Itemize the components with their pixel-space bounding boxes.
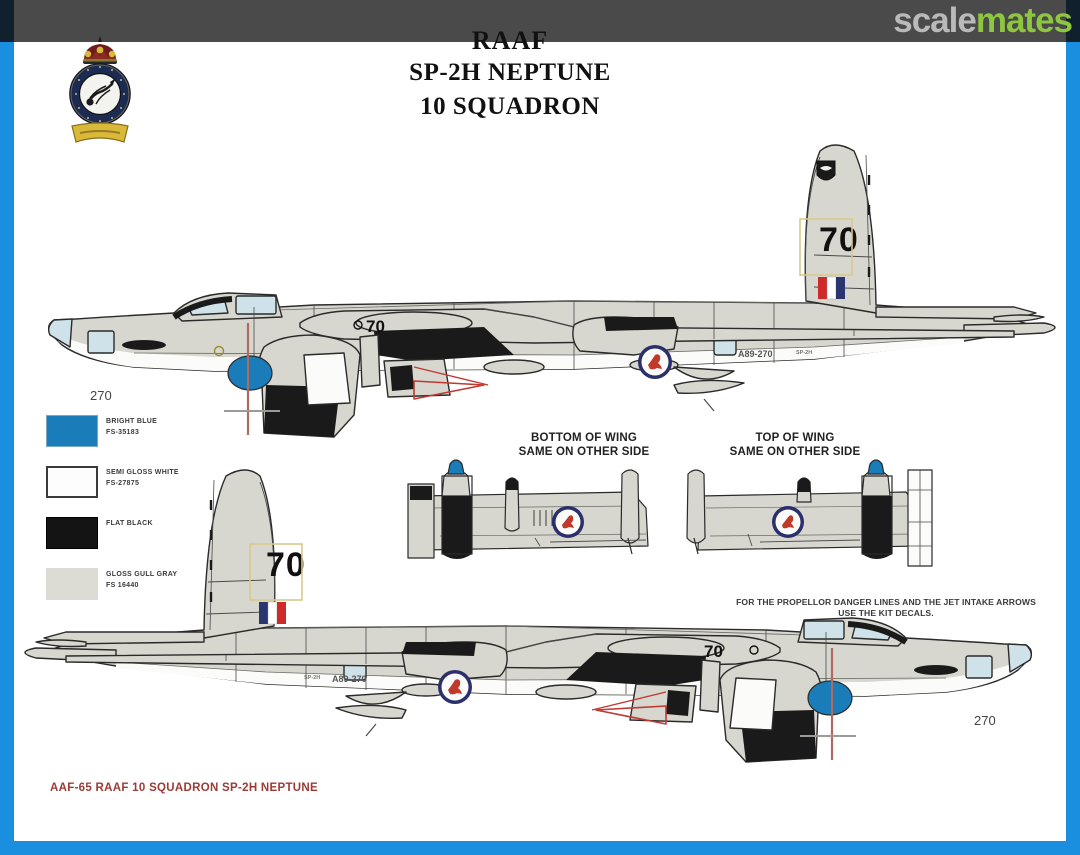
legend-row-semi-gloss-white: SEMI GLOSS WHITE FS-27875 (46, 466, 256, 511)
legend-code-bright-blue: FS-35183 (106, 427, 157, 438)
caption-bottom-of-wing: BOTTOM OF WING SAME ON OTHER SIDE (484, 431, 684, 459)
roundel-wing-bottom (552, 506, 584, 538)
wing-view-top (687, 460, 932, 566)
legend-label-flat-black: FLAT BLACK (106, 518, 153, 529)
roundel-wing-top (772, 506, 804, 538)
svg-text:70: 70 (704, 642, 723, 661)
color-swatch-bright-blue (46, 415, 98, 447)
watermark-text-scale: scale (893, 1, 976, 40)
color-swatch-flat-black (46, 517, 98, 549)
caption-top-of-wing: TOP OF WING SAME ON OTHER SIDE (700, 431, 890, 459)
title-line-raaf: RAAF (280, 26, 740, 56)
decal-usage-note: FOR THE PROPELLOR DANGER LINES AND THE J… (700, 597, 1072, 619)
svg-text:70: 70 (819, 221, 859, 259)
color-swatch-gloss-gull-gray (46, 568, 98, 600)
legend-row-gloss-gull-gray: GLOSS GULL GRAY FS 16440 (46, 568, 256, 613)
watermark-text-mates: mates (976, 1, 1072, 40)
svg-text:SP-2H: SP-2H (796, 350, 812, 356)
legend-row-flat-black: FLAT BLACK (46, 517, 256, 562)
svg-text:70: 70 (366, 317, 385, 336)
legend-code-gloss-gull-gray: FS 16440 (106, 580, 177, 591)
header-bar-left-cap (0, 0, 14, 42)
note-line-2: USE THE KIT DECALS. (700, 608, 1072, 619)
legend-row-bright-blue: BRIGHT BLUE FS-35183 (46, 415, 256, 460)
svg-text:270: 270 (974, 713, 996, 728)
caption-top-line1: TOP OF WING (700, 431, 890, 445)
caption-bottom-line1: BOTTOM OF WING (484, 431, 684, 445)
legend-label-gloss-gull-gray: GLOSS GULL GRAY (106, 569, 177, 580)
sheet-reference-footer: AAF-65 RAAF 10 SQUADRON SP-2H NEPTUNE (50, 782, 318, 794)
svg-text:SP-2H: SP-2H (304, 675, 320, 681)
note-line-1: FOR THE PROPELLOR DANGER LINES AND THE J… (700, 597, 1072, 608)
paint-color-legend: BRIGHT BLUE FS-35183 SEMI GLOSS WHITE FS… (46, 415, 256, 619)
legend-label-semi-gloss-white: SEMI GLOSS WHITE (106, 467, 179, 478)
caption-top-line2: SAME ON OTHER SIDE (700, 445, 890, 459)
legend-label-bright-blue: BRIGHT BLUE (106, 416, 157, 427)
svg-text:270: 270 (90, 388, 112, 403)
caption-bottom-line2: SAME ON OTHER SIDE (484, 445, 684, 459)
aircraft-profile-left-facing: 70 70 270 A89-270 SP-2H (14, 55, 1066, 415)
legend-code-semi-gloss-white: FS-27875 (106, 478, 179, 489)
scalemates-watermark: scalemates (893, 1, 1072, 41)
svg-text:A89-270: A89-270 (738, 349, 773, 359)
svg-text:70: 70 (266, 546, 306, 584)
wing-view-bottom (408, 460, 648, 559)
svg-text:A89-270: A89-270 (332, 674, 367, 684)
wing-plan-views (400, 450, 940, 590)
color-swatch-semi-gloss-white (46, 466, 98, 498)
decal-sheet-page: scalemates RAAF SP-2H NEPTUNE 10 SQUADRO… (0, 0, 1080, 855)
